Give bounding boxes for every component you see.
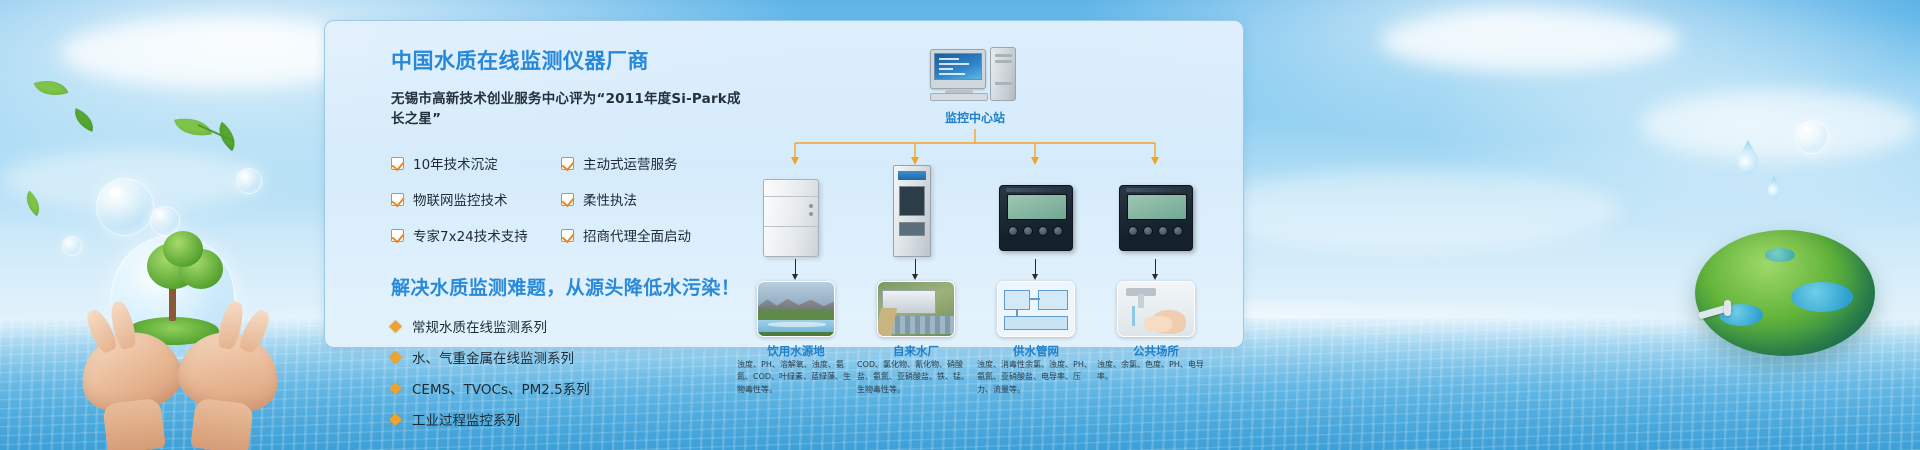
checkbox-checked-icon bbox=[561, 193, 574, 206]
site-photo-waterworks bbox=[877, 281, 955, 337]
site-photo-water-source bbox=[757, 281, 835, 337]
device-tall-sampler bbox=[877, 165, 955, 257]
list-item[interactable]: 常规水质在线监测系列 bbox=[391, 316, 751, 336]
pc-tower-icon bbox=[990, 47, 1016, 101]
diamond-bullet-icon bbox=[389, 382, 402, 395]
content-card: 中国水质在线监测仪器厂商 无锡市高新技术创业服务中心评为“2011年度Si-Pa… bbox=[324, 20, 1244, 348]
monitoring-topology-diagram: 监控中心站 饮用水源地 浊度、PH、 bbox=[755, 37, 1225, 347]
monitor-icon bbox=[930, 49, 986, 89]
list-item-label: CEMS、TVOCs、PM2.5系列 bbox=[412, 378, 590, 398]
cloud-3 bbox=[1640, 90, 1920, 160]
check-item-6[interactable]: 招商代理全面启动 bbox=[561, 225, 731, 245]
left-wrist bbox=[102, 398, 166, 450]
tree-trunk bbox=[169, 287, 176, 321]
check-label: 物联网监控技术 bbox=[413, 189, 508, 209]
site-photo-supply-network bbox=[997, 281, 1075, 337]
node-caption-2: 自来水厂 bbox=[861, 343, 971, 359]
page-subtitle: 无锡市高新技术创业服务中心评为“2011年度Si-Park成长之星” bbox=[391, 87, 751, 127]
tree-canopy bbox=[163, 231, 203, 267]
diamond-bullet-icon bbox=[389, 320, 402, 333]
cloud-2 bbox=[1380, 10, 1680, 72]
cloud-5 bbox=[1200, 170, 1620, 250]
page-title: 中国水质在线监测仪器厂商 bbox=[391, 45, 751, 75]
list-item[interactable]: CEMS、TVOCs、PM2.5系列 bbox=[391, 378, 751, 398]
node-params-1: 浊度、PH、溶解氧、浊度、氨氮、COD、叶绿素、蓝绿藻、生物毒性等。 bbox=[737, 359, 855, 396]
checkbox-checked-icon bbox=[391, 193, 404, 206]
list-item[interactable]: 水、气重金属在线监测系列 bbox=[391, 347, 751, 367]
feature-checklist: 10年技术沉淀 主动式运营服务 物联网监控技术 柔性执法 专家7x24技术支持 … bbox=[391, 153, 751, 245]
node-params-2: COD、氯化物、氰化物、硝酸盐、氨氮、亚硝酸盐、铁、锰、生物毒性等。 bbox=[857, 359, 975, 396]
cabinet-body bbox=[763, 179, 819, 257]
flow-arrow-2 bbox=[915, 259, 916, 275]
device-analyzer-cabinet bbox=[757, 165, 835, 257]
check-label: 10年技术沉淀 bbox=[413, 153, 498, 173]
node-params-4: 浊度、余氯、色度、PH、电导率。 bbox=[1097, 359, 1215, 384]
center-station-label: 监控中心站 bbox=[905, 109, 1045, 126]
list-item[interactable]: 工业过程监控系列 bbox=[391, 409, 751, 429]
list-item-label: 常规水质在线监测系列 bbox=[412, 316, 547, 336]
node-caption-1: 饮用水源地 bbox=[741, 343, 851, 359]
flow-arrow-4 bbox=[1155, 259, 1156, 275]
device-controller-a bbox=[997, 165, 1075, 257]
monitoring-center-computer-icon bbox=[930, 47, 1022, 103]
check-item-5[interactable]: 专家7x24技术支持 bbox=[391, 225, 561, 245]
list-item-label: 工业过程监控系列 bbox=[412, 409, 520, 429]
flow-arrow-3 bbox=[1035, 259, 1036, 275]
checkbox-checked-icon bbox=[561, 229, 574, 242]
checkbox-checked-icon bbox=[391, 229, 404, 242]
check-label: 柔性执法 bbox=[583, 189, 637, 209]
check-label: 招商代理全面启动 bbox=[583, 225, 691, 245]
controller-body bbox=[1119, 185, 1193, 251]
keyboard-icon bbox=[930, 93, 988, 101]
earth-lake bbox=[1765, 248, 1795, 262]
hands-with-tree-illustration bbox=[75, 225, 290, 450]
node-caption-4: 公共场所 bbox=[1101, 343, 1211, 359]
lcd-display bbox=[1007, 194, 1067, 220]
check-item-1[interactable]: 10年技术沉淀 bbox=[391, 153, 561, 173]
product-series-list: 常规水质在线监测系列 水、气重金属在线监测系列 CEMS、TVOCs、PM2.5… bbox=[391, 316, 751, 429]
check-item-2[interactable]: 主动式运营服务 bbox=[561, 153, 731, 173]
check-item-4[interactable]: 柔性执法 bbox=[561, 189, 731, 209]
check-item-3[interactable]: 物联网监控技术 bbox=[391, 189, 561, 209]
sampler-body bbox=[893, 165, 931, 257]
faucet-icon bbox=[1724, 300, 1731, 316]
diamond-bullet-icon bbox=[389, 351, 402, 364]
earth-ball bbox=[1695, 230, 1875, 356]
controller-body bbox=[999, 185, 1073, 251]
green-earth-illustration bbox=[1690, 230, 1880, 370]
earth-lake bbox=[1791, 282, 1853, 312]
right-wrist bbox=[190, 398, 254, 450]
checkbox-checked-icon bbox=[561, 157, 574, 170]
checkbox-checked-icon bbox=[391, 157, 404, 170]
lcd-display bbox=[1127, 194, 1187, 220]
check-label: 专家7x24技术支持 bbox=[413, 225, 528, 245]
section-title: 解决水质监测难题，从源头降低水污染！ bbox=[391, 273, 751, 300]
list-item-label: 水、气重金属在线监测系列 bbox=[412, 347, 574, 367]
node-caption-3: 供水管网 bbox=[981, 343, 1091, 359]
screen bbox=[934, 53, 982, 80]
device-controller-b bbox=[1117, 165, 1195, 257]
bubble-icon bbox=[1795, 120, 1829, 154]
flow-arrow-1 bbox=[795, 259, 796, 275]
node-params-3: 浊度、消毒性余氯、浊度、PH、氨氮、亚硝酸盐、电导率、压力、流量等。 bbox=[977, 359, 1095, 396]
site-photo-public-place bbox=[1117, 281, 1195, 337]
bubble-icon bbox=[236, 168, 262, 194]
diamond-bullet-icon bbox=[389, 413, 402, 426]
check-label: 主动式运营服务 bbox=[583, 153, 678, 173]
left-content-column: 中国水质在线监测仪器厂商 无锡市高新技术创业服务中心评为“2011年度Si-Pa… bbox=[391, 45, 751, 429]
